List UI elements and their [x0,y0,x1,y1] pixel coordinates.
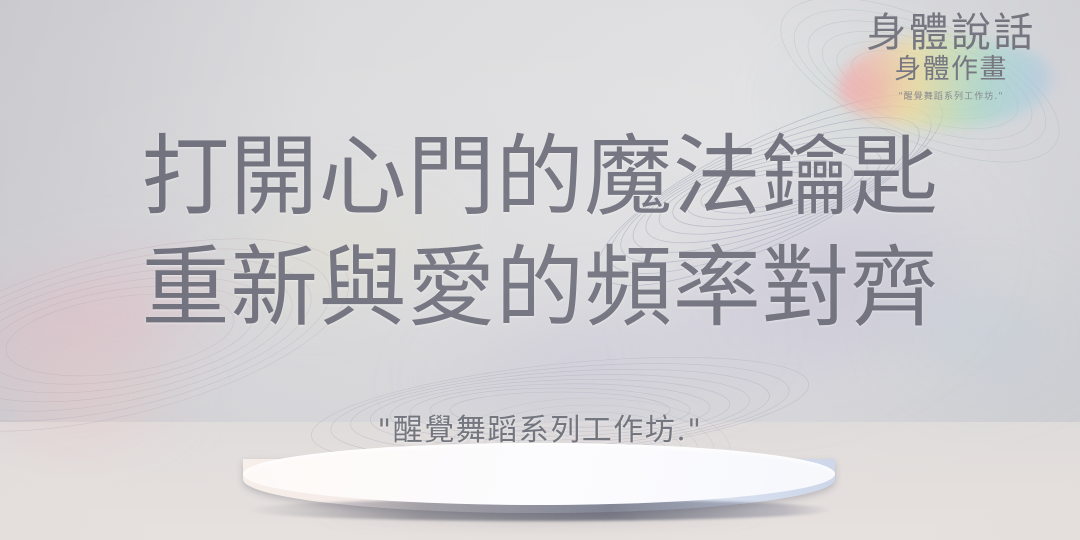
promo-banner: 打開心門的魔法鑰匙 重新與愛的頻率對齊 "醒覺舞蹈系列工作坊." 身體說話 身體… [0,0,1080,540]
headline-block: 打開心門的魔法鑰匙 重新與愛的頻率對齊 [0,122,1080,344]
logo-primary-text: 身體說話 [846,12,1056,54]
logo-tagline: "醒覺舞蹈系列工作坊." [846,92,1056,103]
circular-podium [243,443,835,531]
brand-logo: 身體說話 身體作畫 "醒覺舞蹈系列工作坊." [846,12,1056,102]
podium-top [243,443,835,505]
headline-line-1: 打開心門的魔法鑰匙 [0,122,1080,233]
subtitle: "醒覺舞蹈系列工作坊." [0,405,1080,449]
logo-secondary-text: 身體作畫 [846,55,1056,85]
headline-line-2: 重新與愛的頻率對齊 [0,233,1080,344]
